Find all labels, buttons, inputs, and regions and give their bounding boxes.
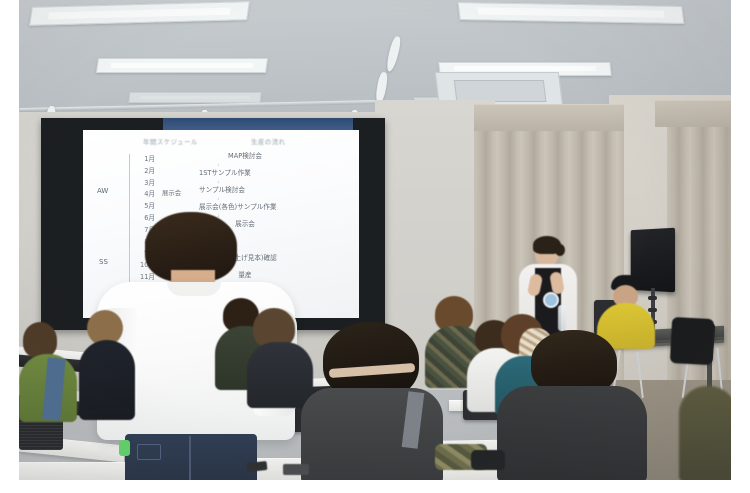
month-item: 3月 <box>135 178 155 190</box>
curtain-right <box>667 118 731 418</box>
flow-arrow-icon: ↓ <box>199 178 349 186</box>
season-event-aw: 展示会 <box>162 188 181 197</box>
photo-canvas: 年間スケジュール 生産の流れ 1月 2月 3月 4月 5月 6月 7月 8月 9… <box>0 0 750 493</box>
flow-step: 展示会(各色)サンプル作業 <box>199 203 349 212</box>
presenter-hair-bun <box>555 244 565 256</box>
attendee-bun-hair <box>77 310 137 420</box>
attendee-far-right-edge <box>679 386 731 480</box>
conference-room-photo: 年間スケジュール 生産の流れ 1月 2月 3月 4月 5月 6月 7月 8月 9… <box>19 0 731 480</box>
flow-step: 1STサンプル作業 <box>199 169 349 178</box>
attendee-foreground-center <box>301 322 443 480</box>
jeans-pocket <box>137 444 161 460</box>
jeans-seam <box>189 436 191 480</box>
attendee-top <box>79 340 135 420</box>
curtain-valance-right <box>655 100 731 127</box>
flow-arrow-icon: ↓ <box>199 161 349 169</box>
belt-clip-icon <box>119 440 130 456</box>
season-label-aw: AW <box>97 187 108 195</box>
ceiling-light-5 <box>128 92 261 103</box>
ceiling-light-2 <box>96 58 268 73</box>
slide-header-right: 生産の流れ <box>251 136 286 146</box>
notebook-on-desk-icon <box>283 464 309 475</box>
flow-step: MAP検討会 <box>199 152 291 161</box>
attendee-shirt <box>497 386 647 480</box>
month-item: 1月 <box>135 154 155 166</box>
attendee-green-shirt <box>19 322 81 422</box>
attendee-foreground-right <box>497 330 647 480</box>
black-pouch-icon <box>471 450 505 470</box>
flow-arrow-icon: ↓ <box>199 195 349 203</box>
slide-header-left: 年間スケジュール <box>143 136 198 146</box>
curtain-valance-center <box>474 104 624 131</box>
month-item: 4月 <box>135 189 155 201</box>
standing-attendee-collar <box>167 282 221 296</box>
month-item: 2月 <box>135 166 155 178</box>
attendee-top <box>679 386 731 480</box>
presenter-badge <box>543 292 559 308</box>
flow-step: サンプル検討会 <box>199 186 349 195</box>
attendee-head <box>23 322 57 358</box>
black-bag-on-chair-icon <box>670 317 714 365</box>
